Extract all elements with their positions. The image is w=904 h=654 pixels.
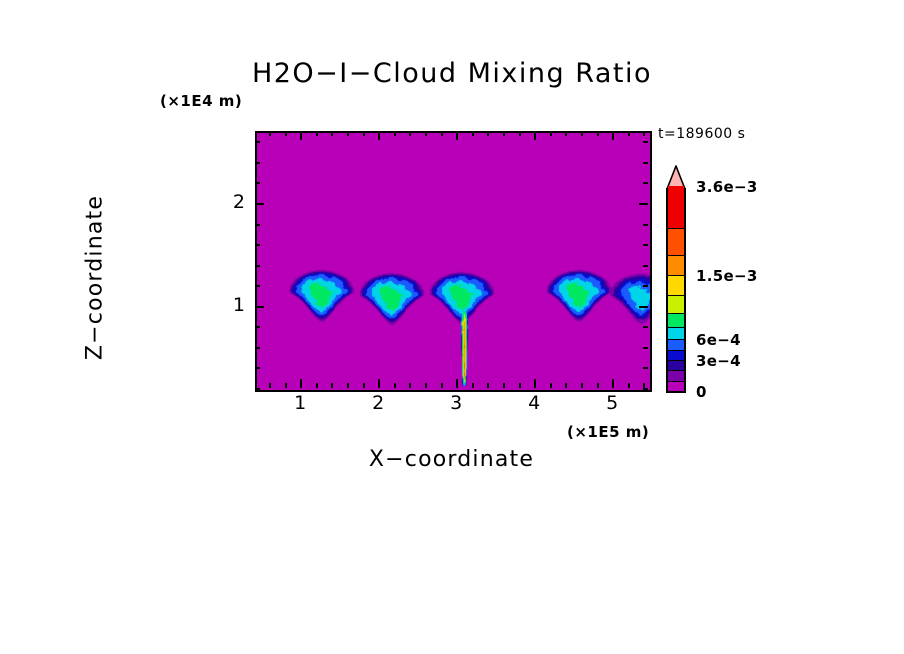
x-tick-minor (519, 131, 521, 136)
x-tick-major (612, 379, 614, 388)
x-tick-minor (394, 131, 396, 136)
x-tick-major (456, 131, 458, 140)
colorbar-band (668, 255, 684, 275)
y-tick-minor (643, 224, 648, 226)
y-tick-minor (643, 244, 648, 246)
y-tick-minor (255, 162, 260, 164)
y-tick-minor (643, 388, 648, 390)
colorbar-tick-label: 6e−4 (696, 331, 741, 349)
x-tick-minor (269, 383, 271, 388)
y-tick-label: 1 (215, 294, 245, 316)
colorbar-tick-label: 1.5e−3 (696, 267, 758, 285)
x-tick-minor (472, 383, 474, 388)
colorbar-band (668, 313, 684, 327)
y-tick-minor (255, 265, 260, 267)
x-tick-major (378, 131, 380, 140)
colorbar-gradient (666, 188, 686, 393)
y-tick-minor (255, 388, 260, 390)
x-tick-minor (597, 383, 599, 388)
x-tick-minor (425, 383, 427, 388)
x-tick-minor (409, 383, 411, 388)
colorbar-band (668, 275, 684, 295)
x-tick-label: 4 (514, 392, 554, 414)
x-tick-minor (316, 131, 318, 136)
y-tick-minor (643, 182, 648, 184)
x-tick-label: 1 (280, 392, 320, 414)
x-tick-minor (316, 383, 318, 388)
x-tick-minor (503, 131, 505, 136)
x-tick-minor (363, 131, 365, 136)
y-tick-minor (255, 347, 260, 349)
colorbar-band (668, 350, 684, 360)
x-tick-minor (441, 131, 443, 136)
x-tick-minor (394, 383, 396, 388)
x-tick-minor (487, 131, 489, 136)
x-tick-minor (285, 383, 287, 388)
y-tick-minor (643, 162, 648, 164)
x-tick-minor (487, 383, 489, 388)
y-axis-title: Z−coordinate (83, 128, 108, 428)
x-tick-minor (331, 383, 333, 388)
x-tick-minor (331, 131, 333, 136)
x-axis-title: X−coordinate (255, 447, 648, 472)
y-tick-minor (255, 326, 260, 328)
x-tick-major (534, 379, 536, 388)
colorbar: 3.6e−31.5e−36e−43e−40 (666, 165, 866, 393)
y-tick-major (255, 203, 264, 205)
colorbar-band (668, 228, 684, 255)
y-tick-minor (643, 285, 648, 287)
x-tick-minor (597, 131, 599, 136)
x-tick-major (456, 379, 458, 388)
x-tick-major (300, 379, 302, 388)
x-tick-minor (409, 131, 411, 136)
x-tick-major (534, 131, 536, 140)
colorbar-tick-label: 0 (696, 383, 707, 401)
timestamp-annotation: t=189600 s (658, 126, 745, 142)
x-tick-minor (425, 131, 427, 136)
y-tick-minor (643, 367, 648, 369)
y-tick-label: 2 (215, 191, 245, 213)
y-tick-major (639, 306, 648, 308)
x-tick-minor (347, 131, 349, 136)
x-tick-minor (550, 131, 552, 136)
x-tick-minor (581, 383, 583, 388)
y-tick-minor (643, 141, 648, 143)
x-tick-label: 5 (592, 392, 632, 414)
x-tick-label: 3 (436, 392, 476, 414)
x-tick-minor (565, 383, 567, 388)
y-tick-minor (643, 347, 648, 349)
x-tick-minor (550, 383, 552, 388)
x-tick-major (378, 379, 380, 388)
x-tick-minor (347, 383, 349, 388)
x-tick-minor (628, 383, 630, 388)
x-tick-minor (581, 131, 583, 136)
y-tick-minor (255, 224, 260, 226)
colorbar-band (668, 381, 684, 391)
colorbar-tick-label: 3e−4 (696, 352, 741, 370)
figure-canvas: H2O−I−Cloud Mixing Ratio (×1E4 m) (×1E5 … (0, 0, 904, 654)
y-tick-minor (255, 141, 260, 143)
x-tick-minor (363, 383, 365, 388)
colorbar-band (668, 370, 684, 380)
x-tick-minor (472, 131, 474, 136)
x-tick-major (612, 131, 614, 140)
x-tick-minor (565, 131, 567, 136)
colorbar-band (668, 327, 684, 338)
y-tick-major (639, 203, 648, 205)
x-tick-minor (285, 131, 287, 136)
x-tick-label: 2 (358, 392, 398, 414)
x-tick-minor (441, 383, 443, 388)
y-tick-minor (255, 367, 260, 369)
colorbar-band (668, 295, 684, 314)
x-tick-minor (503, 383, 505, 388)
colorbar-band (668, 186, 684, 228)
y-axis-units-label: (×1E4 m) (160, 92, 242, 110)
x-tick-major (300, 131, 302, 140)
y-tick-minor (643, 265, 648, 267)
chart-title: H2O−I−Cloud Mixing Ratio (0, 58, 904, 89)
colorbar-band (668, 360, 684, 370)
x-tick-minor (269, 131, 271, 136)
y-tick-minor (643, 326, 648, 328)
colorbar-tick-label: 3.6e−3 (696, 178, 758, 196)
x-tick-minor (628, 131, 630, 136)
x-tick-minor (643, 131, 645, 136)
y-tick-minor (255, 244, 260, 246)
heatmap-field (257, 133, 650, 390)
x-axis-units-label: (×1E5 m) (567, 423, 649, 441)
y-tick-minor (255, 182, 260, 184)
heatmap-plot-area (255, 131, 652, 392)
colorbar-band (668, 339, 684, 350)
y-tick-major (255, 306, 264, 308)
x-tick-minor (519, 383, 521, 388)
y-tick-minor (255, 285, 260, 287)
